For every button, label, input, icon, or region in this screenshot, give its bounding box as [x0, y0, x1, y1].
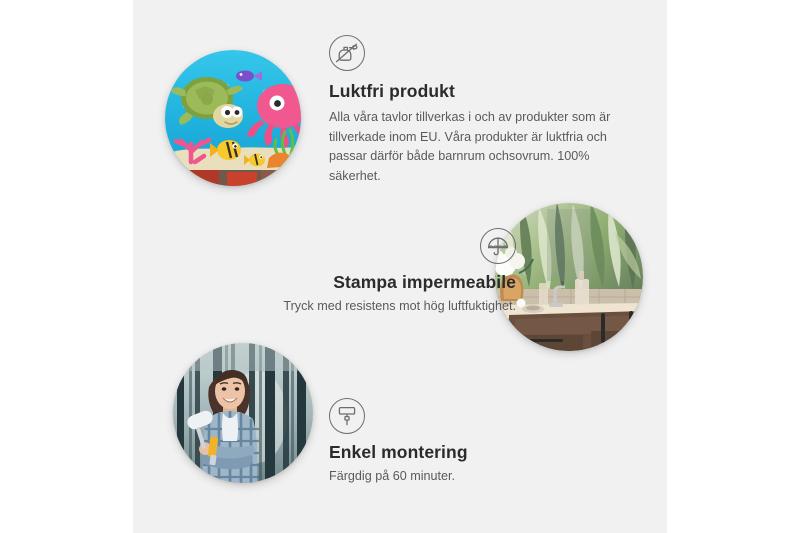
feature-panel: Luktfri produkt Alla våra tavlor tillver… [133, 0, 667, 533]
screenshot-canvas: Luktfri produkt Alla våra tavlor tillver… [0, 0, 800, 533]
feature-title: Stampa impermeabile [181, 272, 516, 293]
feature-title: Luktfri produkt [329, 81, 641, 102]
feature-easy-mount: Enkel montering Färgdig på 60 minuter. [329, 398, 629, 487]
feature-title: Enkel montering [329, 442, 629, 463]
paint-roller-icon [329, 398, 365, 434]
feature-odourless: Luktfri produkt Alla våra tavlor tillver… [329, 35, 641, 186]
feature-body: Tryck med resistens mot hög luftfuktighe… [181, 297, 516, 317]
feature-body: Färgdig på 60 minuter. [329, 467, 629, 487]
no-fragrance-icon [329, 35, 365, 71]
feature-waterproof: Stampa impermeabile Tryck med resistens … [181, 228, 516, 317]
feature-body: Alla våra tavlor tillverkas i och av pro… [329, 108, 641, 186]
photo-aquarium[interactable] [165, 50, 301, 186]
photo-bathroom[interactable] [495, 203, 643, 351]
photo-painter[interactable] [173, 343, 313, 483]
umbrella-icon [480, 228, 516, 264]
